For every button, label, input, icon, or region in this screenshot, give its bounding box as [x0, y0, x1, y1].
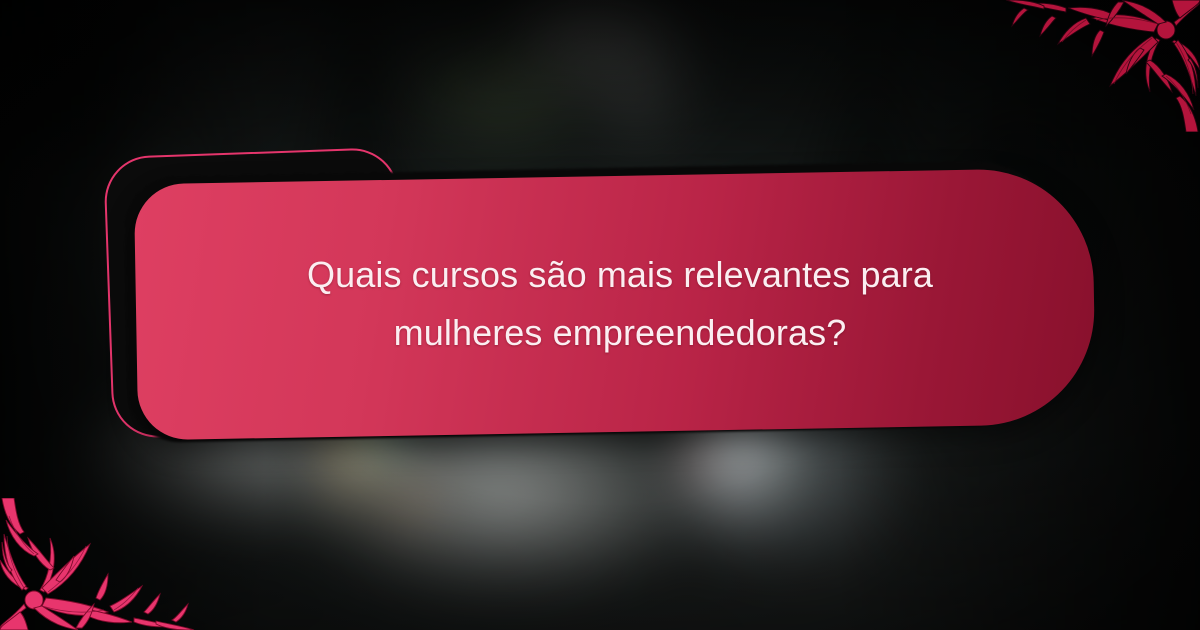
quote-line-2: mulheres empreendedoras? [270, 304, 970, 362]
quote-card-canvas: Quais cursos são mais relevantes para mu… [0, 0, 1200, 630]
quote-text: Quais cursos são mais relevantes para mu… [270, 246, 970, 363]
quote-card: Quais cursos são mais relevantes para mu… [134, 168, 1096, 441]
quote-line-1: Quais cursos são mais relevantes para [270, 246, 970, 304]
